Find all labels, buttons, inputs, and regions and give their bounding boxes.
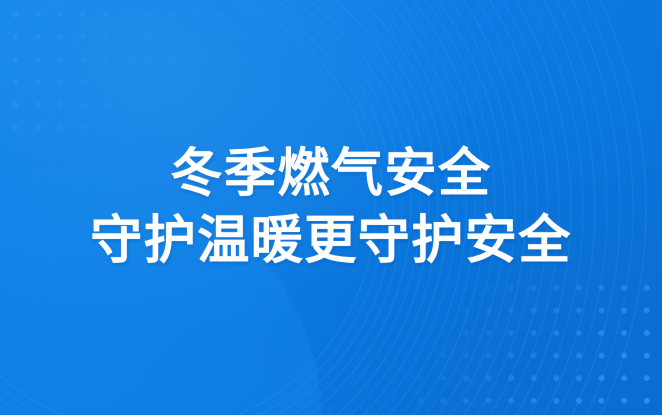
promo-banner: 冬季燃气安全 守护温暖更守护安全 bbox=[0, 0, 662, 415]
headline-block: 冬季燃气安全 守护温暖更守护安全 bbox=[0, 0, 662, 415]
headline-line-2: 守护温暖更守护安全 bbox=[90, 212, 572, 270]
headline-line-1: 冬季燃气安全 bbox=[170, 145, 491, 203]
